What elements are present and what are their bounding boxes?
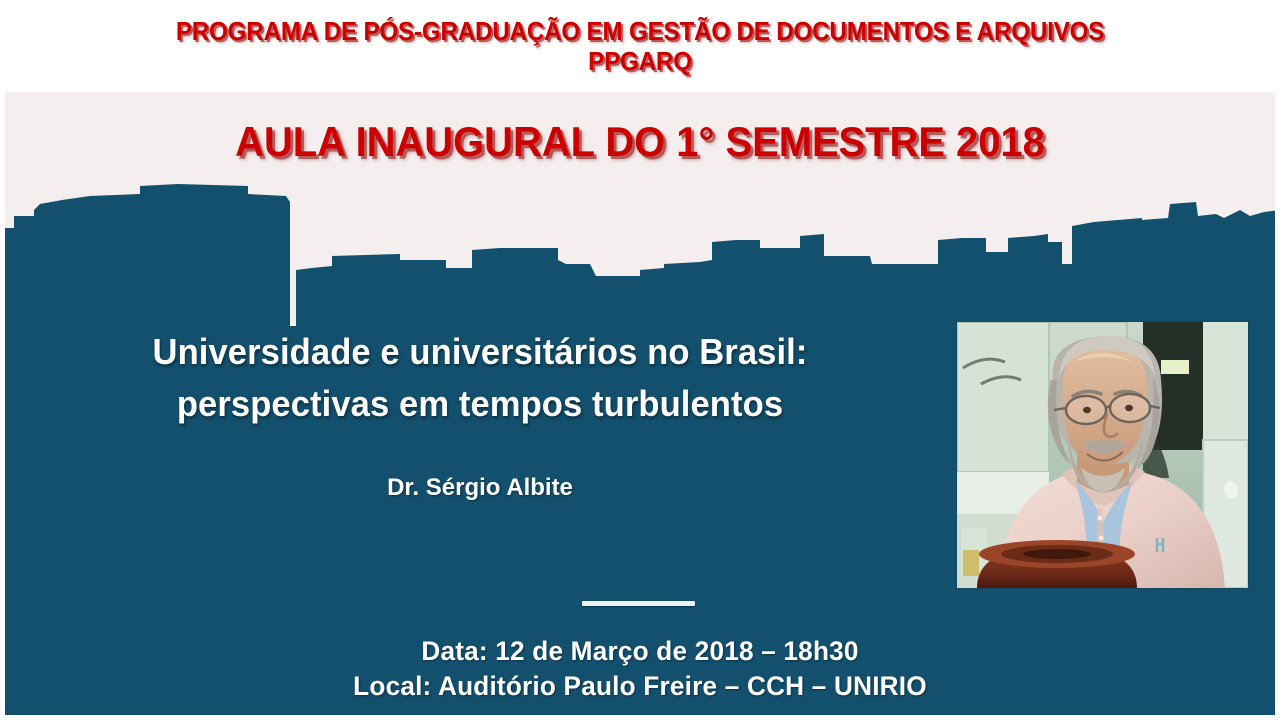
speaker-name: Dr. Sérgio Albite <box>30 473 930 503</box>
event-poster: PROGRAMA DE PÓS-GRADUAÇÃO EM GESTÃO DE D… <box>0 0 1280 720</box>
event-details: Data: 12 de Março de 2018 – 18h30 Local:… <box>19 634 1261 704</box>
frame-left-edge <box>0 92 5 720</box>
speaker-portrait-image <box>957 322 1248 588</box>
frame-right-edge <box>1275 92 1280 720</box>
event-date: Data: 12 de Março de 2018 – 18h30 <box>19 634 1261 669</box>
event-headline: AULA INAUGURAL DO 1° SEMESTRE 2018 <box>32 118 1248 166</box>
event-location: Local: Auditório Paulo Freire – CCH – UN… <box>19 669 1261 704</box>
divider-rule <box>582 601 695 606</box>
program-title: PROGRAMA DE PÓS-GRADUAÇÃO EM GESTÃO DE D… <box>87 16 1194 76</box>
speaker-photo <box>957 322 1248 588</box>
frame-bottom-edge <box>0 715 1280 720</box>
header-band: PROGRAMA DE PÓS-GRADUAÇÃO EM GESTÃO DE D… <box>0 0 1280 92</box>
lecture-title: Universidade e universitários no Brasil:… <box>48 326 912 430</box>
